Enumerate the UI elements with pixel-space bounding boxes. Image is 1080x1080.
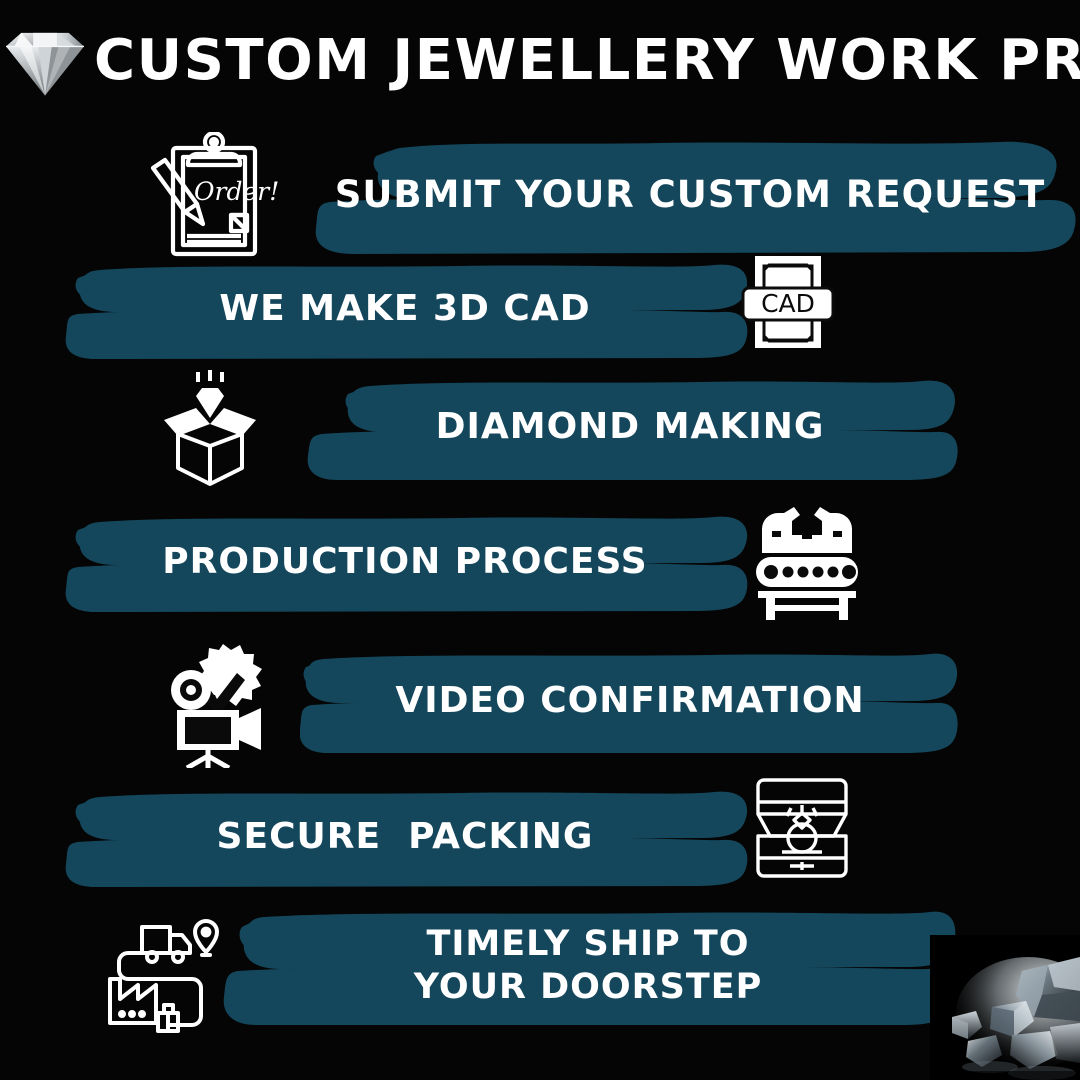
step-label-6: SECURE PACKING xyxy=(60,784,750,889)
step-label-4: PRODUCTION PROCESS xyxy=(60,509,750,614)
step-banner-5[interactable]: VIDEO CONFIRMATION xyxy=(300,647,960,755)
step-banner-7[interactable]: TIMELY SHIP TO YOUR DOORSTEP xyxy=(218,905,958,1027)
step-banner-2[interactable]: WE MAKE 3D CAD xyxy=(60,256,750,361)
step-row-4: PRODUCTION PROCESS xyxy=(0,505,1080,620)
step-banner-4[interactable]: PRODUCTION PROCESS xyxy=(60,509,750,614)
video-camera-check-icon xyxy=(163,638,285,768)
header: CUSTOM JEWELLERY WORK PROCESS xyxy=(0,0,1080,120)
step-label-5: VIDEO CONFIRMATION xyxy=(300,647,960,755)
cad-caption: CAD xyxy=(761,289,815,318)
step-row-7: TIMELY SHIP TO YOUR DOORSTEP xyxy=(0,905,1080,1035)
step-row-2: WE MAKE 3D CAD CAD xyxy=(0,256,1080,361)
step-label-7: TIMELY SHIP TO YOUR DOORSTEP xyxy=(218,905,958,1027)
step-label-3: DIAMOND MAKING xyxy=(300,372,960,482)
open-box-diamond-icon xyxy=(150,368,270,490)
diamond-icon xyxy=(2,21,88,99)
clipboard-caption: Order! xyxy=(194,177,279,206)
step-row-5: VIDEO CONFIRMATION xyxy=(0,638,1080,768)
step-row-3: DIAMOND MAKING xyxy=(0,368,1080,490)
step-label-1: SUBMIT YOUR CUSTOM REQUEST xyxy=(300,130,1080,260)
shipping-truck-factory-icon xyxy=(98,909,224,1035)
ring-box-icon xyxy=(738,774,866,886)
cad-file-icon: CAD xyxy=(737,252,839,352)
step-banner-6[interactable]: SECURE PACKING xyxy=(60,784,750,889)
step-row-1: Order! SUBMIT YOUR CUSTOM REQUEST xyxy=(0,130,1080,260)
page-title: CUSTOM JEWELLERY WORK PROCESS xyxy=(94,28,1080,93)
step-row-6: SECURE PACKING xyxy=(0,780,1080,892)
step-label-2: WE MAKE 3D CAD xyxy=(60,256,750,361)
clipboard-order-icon: Order! xyxy=(135,132,280,260)
step-banner-3[interactable]: DIAMOND MAKING xyxy=(300,372,960,482)
step-banner-1[interactable]: SUBMIT YOUR CUSTOM REQUEST xyxy=(300,130,1080,260)
conveyor-robot-arms-icon xyxy=(748,505,866,620)
